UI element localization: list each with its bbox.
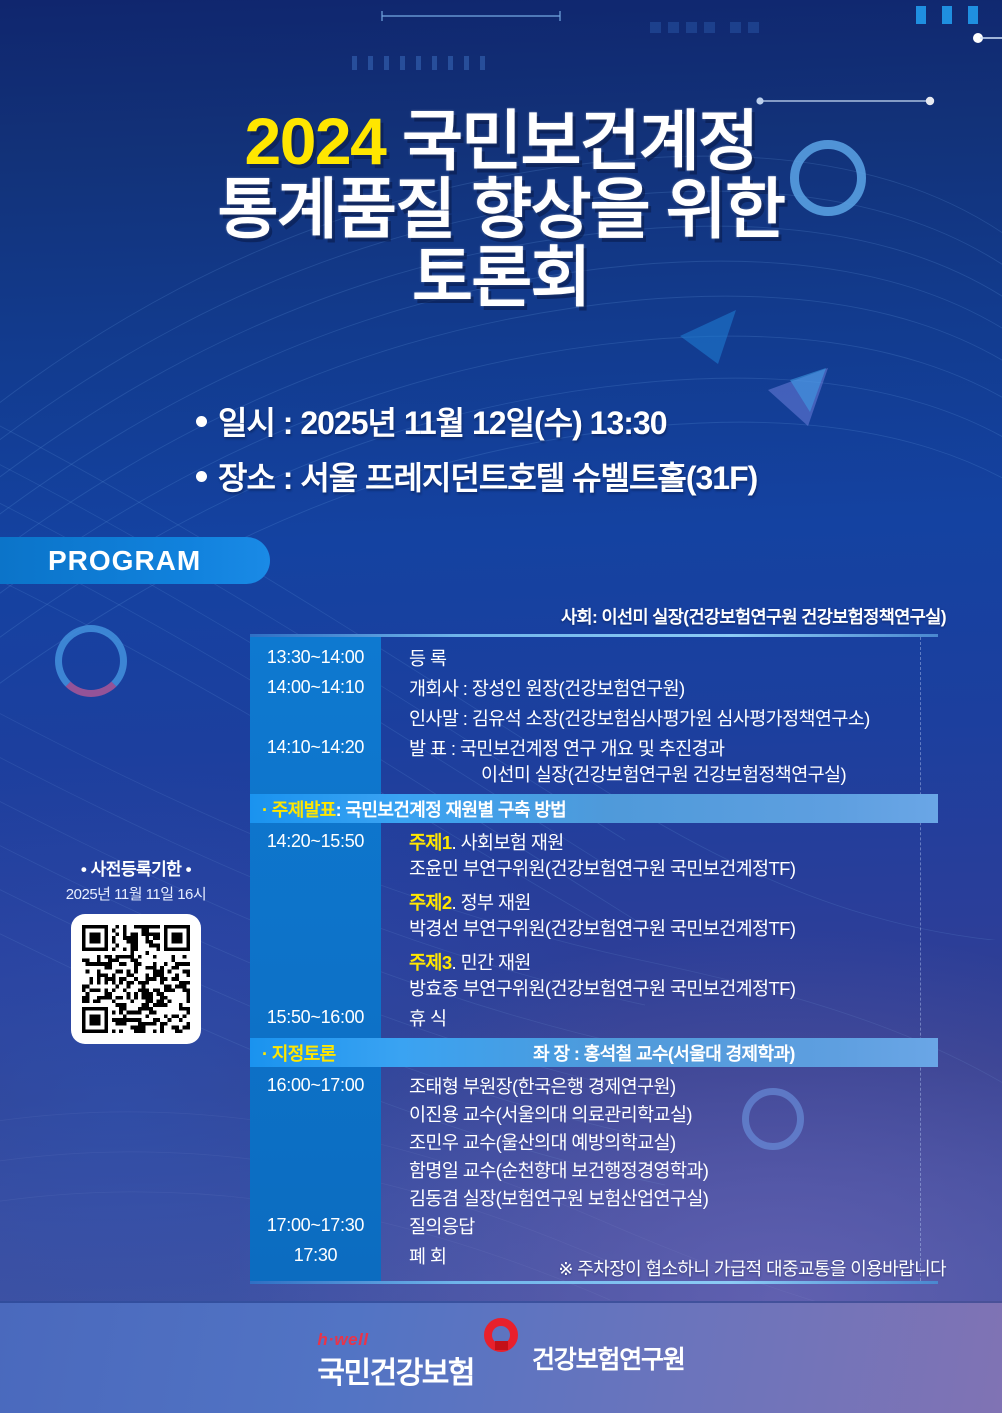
topic-name: . 사회보험 재원	[452, 832, 564, 853]
row-content: 조태형 부원장(한국은행 경제연구원) 이진용 교수(서울의대 의료관리학교실)…	[381, 1073, 938, 1213]
topic-number: 주제1	[409, 832, 452, 853]
table-row: 14:10~14:20 발 표 : 국민보건계정 연구 개요 및 추진경과 이선…	[250, 735, 938, 787]
section-header-presentations: · 주제발표 : 국민보건계정 재원별 구축 방법	[250, 794, 938, 823]
event-info: 일시 : 2025년 11월 12일(수) 13:30 장소 : 서울 프레지던…	[196, 398, 916, 508]
topic-title-1: 주제1. 사회보험 재원	[409, 829, 938, 855]
row-content-main: 발 표 : 국민보건계정 연구 개요 및 추진경과	[409, 738, 724, 759]
nhis-tagline: h·well	[317, 1330, 474, 1350]
row-content: 등 록	[381, 645, 938, 671]
topic-name: . 정부 재원	[452, 892, 531, 913]
poster-headline: 2024 국민보건계정 통계품질 향상을 위한 토론회	[0, 108, 1002, 312]
pre-registration-deadline: 2025년 11월 11일 16시	[36, 883, 236, 904]
event-date-text: 일시 : 2025년 11월 12일(수) 13:30	[218, 398, 667, 444]
bullet-icon	[196, 471, 207, 482]
row-content: 인사말 : 김유석 소장(건강보험심사평가원 심사평가정책연구소)	[381, 705, 938, 731]
qr-code-icon[interactable]	[82, 925, 190, 1033]
row-content: 발 표 : 국민보건계정 연구 개요 및 추진경과 이선미 실장(건강보험연구원…	[381, 735, 938, 787]
row-content: 개회사 : 장성인 원장(건강보험연구원)	[381, 675, 938, 701]
topic-speaker-3: 방효중 부연구위원(건강보험연구원 국민보건계정TF)	[409, 975, 938, 1001]
bullet-icon	[196, 416, 207, 427]
row-time: 15:50~16:00	[250, 1005, 381, 1031]
pre-registration-title: • 사전등록기한 •	[36, 855, 236, 880]
table-row: 14:20~15:50 주제1. 사회보험 재원 조윤민 부연구위원(건강보험연…	[250, 829, 938, 1001]
headline-line-3: 토론회	[0, 244, 1002, 312]
section-header-discussion: · 지정토론 좌 장 : 홍석철 교수(서울대 경제학과)	[250, 1038, 938, 1067]
nhis-heart-ring-logo-icon	[484, 1318, 518, 1352]
table-row: 15:50~16:00 휴 식	[250, 1005, 938, 1031]
moderator-line: 사회: 이선미 실장(건강보험연구원 건강보험정책연구실)	[561, 604, 946, 629]
program-table: 13:30~14:00 등 록 14:00~14:10 개회사 : 장성인 원장…	[250, 634, 938, 1284]
section-chair: 좌 장 : 홍석철 교수(서울대 경제학과)	[250, 1040, 938, 1066]
row-content: 질의응답	[381, 1213, 938, 1239]
topic-speaker-1: 조윤민 부연구위원(건강보험연구원 국민보건계정TF)	[409, 855, 938, 881]
table-body: 13:30~14:00 등 록 14:00~14:10 개회사 : 장성인 원장…	[250, 637, 938, 1281]
row-content: 주제1. 사회보험 재원 조윤민 부연구위원(건강보험연구원 국민보건계정TF)…	[381, 829, 938, 1001]
program-tab-label: PROGRAM	[0, 545, 201, 577]
qr-code-card[interactable]	[71, 914, 201, 1044]
poster-root: 2024 국민보건계정 통계품질 향상을 위한 토론회 일시 : 2025년 1…	[0, 0, 1002, 1413]
topic-speaker-2: 박경선 부연구위원(건강보험연구원 국민보건계정TF)	[409, 915, 938, 941]
topic-title-3: 주제3. 민간 재원	[409, 949, 938, 975]
nhis-logo: h·well 국민건강보험	[317, 1324, 474, 1392]
section-label: · 주제발표	[250, 796, 336, 822]
row-content: 폐 회	[381, 1243, 938, 1269]
row-time: 17:00~17:30	[250, 1213, 381, 1239]
table-row: 16:00~17:00 조태형 부원장(한국은행 경제연구원) 이진용 교수(서…	[250, 1073, 938, 1213]
discussant-item: 함명일 교수(순천향대 보건행정경영학과)	[409, 1157, 938, 1185]
table-row: 13:30~14:00 등 록	[250, 645, 938, 671]
topic-number: 주제2	[409, 892, 452, 913]
topic-title-2: 주제2. 정부 재원	[409, 889, 938, 915]
topic-number: 주제3	[409, 952, 452, 973]
headline-year: 2024	[245, 104, 386, 178]
headline-line1-rest: 국민보건계정	[402, 104, 757, 178]
topic-name: . 민간 재원	[452, 952, 531, 973]
table-bottom-rule	[250, 1281, 938, 1284]
footer-logos: h·well 국민건강보험 건강보험연구원	[0, 1301, 1002, 1413]
discussant-item: 김동겸 실장(보험연구원 보험산업연구실)	[409, 1185, 938, 1213]
row-time: 14:20~15:50	[250, 829, 381, 1001]
corner-squares-decoration	[822, 0, 1002, 120]
discussant-item: 이진용 교수(서울의대 의료관리학교실)	[409, 1101, 938, 1129]
row-content: 휴 식	[381, 1005, 938, 1031]
row-time: 16:00~17:00	[250, 1073, 381, 1213]
row-time: 14:00~14:10	[250, 675, 381, 701]
row-content-sub: 이선미 실장(건강보험연구원 건강보험정책연구실)	[409, 761, 938, 787]
program-tab: PROGRAM	[0, 537, 270, 584]
row-time: 14:10~14:20	[250, 735, 381, 787]
headline-line-1: 2024 국민보건계정	[0, 108, 1002, 176]
table-row: 17:30 폐 회	[250, 1243, 938, 1269]
pre-registration-block: • 사전등록기한 • 2025년 11월 11일 16시	[36, 855, 236, 1044]
event-venue-row: 장소 : 서울 프레지던트호텔 슈벨트홀(31F)	[196, 453, 916, 499]
discussant-item: 조태형 부원장(한국은행 경제연구원)	[409, 1073, 938, 1101]
section-subtitle: : 국민보건계정 재원별 구축 방법	[336, 796, 566, 822]
row-time: 17:30	[250, 1243, 381, 1269]
row-time	[250, 705, 381, 731]
table-row: 17:00~17:30 질의응답	[250, 1213, 938, 1239]
event-date-row: 일시 : 2025년 11월 12일(수) 13:30	[196, 398, 916, 444]
hira-name: 건강보험연구원	[532, 1340, 685, 1376]
event-venue-text: 장소 : 서울 프레지던트호텔 슈벨트홀(31F)	[218, 453, 757, 499]
headline-line-2: 통계품질 향상을 위한	[0, 176, 1002, 244]
discussant-item: 조민우 교수(울산의대 예방의학교실)	[409, 1129, 938, 1157]
table-row: 14:00~14:10 개회사 : 장성인 원장(건강보험연구원)	[250, 675, 938, 701]
row-time: 13:30~14:00	[250, 645, 381, 671]
nhis-name: 국민건강보험	[317, 1348, 474, 1392]
ring-decoration-2	[55, 625, 127, 697]
table-row: 인사말 : 김유석 소장(건강보험심사평가원 심사평가정책연구소)	[250, 705, 938, 731]
